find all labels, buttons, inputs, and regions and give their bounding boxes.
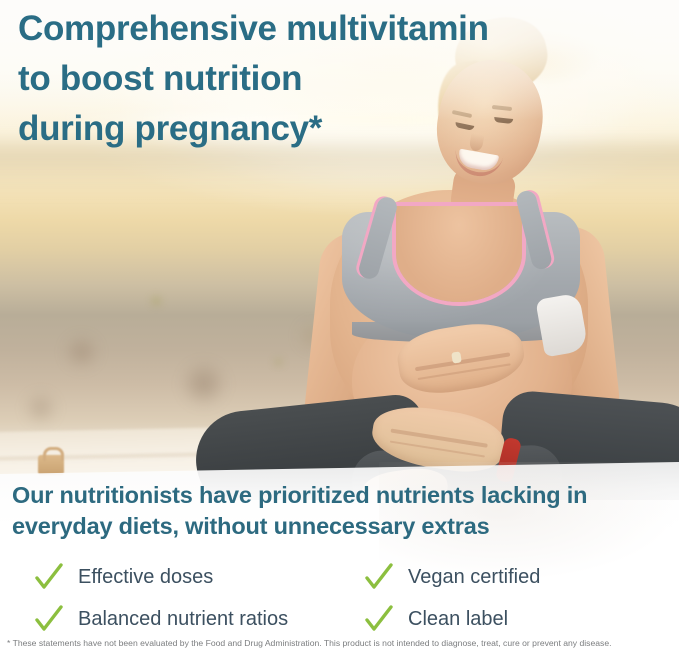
subheading-line-2: everyday diets, without unnecessary extr…	[12, 511, 672, 542]
list-item: Balanced nutrient ratios	[34, 604, 364, 634]
feature-label: Balanced nutrient ratios	[78, 608, 288, 630]
list-item: Clean label	[364, 604, 674, 634]
headline-line-2: to boost nutrition	[18, 54, 618, 104]
headline-line-3: during pregnancy*	[18, 104, 618, 154]
check-icon	[34, 562, 64, 592]
feature-label: Clean label	[408, 608, 508, 630]
subheading: Our nutritionists have prioritized nutri…	[12, 480, 672, 542]
feature-list: Effective doses Vegan certified Balanced…	[34, 556, 674, 640]
subheading-line-1: Our nutritionists have prioritized nutri…	[12, 480, 672, 511]
headline-line-1: Comprehensive multivitamin	[18, 4, 618, 54]
check-icon	[364, 562, 394, 592]
finger-ring	[451, 351, 462, 363]
check-icon	[34, 604, 64, 634]
check-icon	[364, 604, 394, 634]
list-item: Effective doses	[34, 562, 364, 592]
bra-neckline-pink-trim	[396, 206, 522, 302]
product-marketing-image: Comprehensive multivitamin to boost nutr…	[0, 0, 679, 655]
fda-disclaimer: * These statements have not been evaluat…	[7, 638, 675, 649]
page-title: Comprehensive multivitamin to boost nutr…	[18, 4, 618, 154]
feature-label: Vegan certified	[408, 566, 540, 588]
feature-label: Effective doses	[78, 566, 213, 588]
list-item: Vegan certified	[364, 562, 674, 592]
